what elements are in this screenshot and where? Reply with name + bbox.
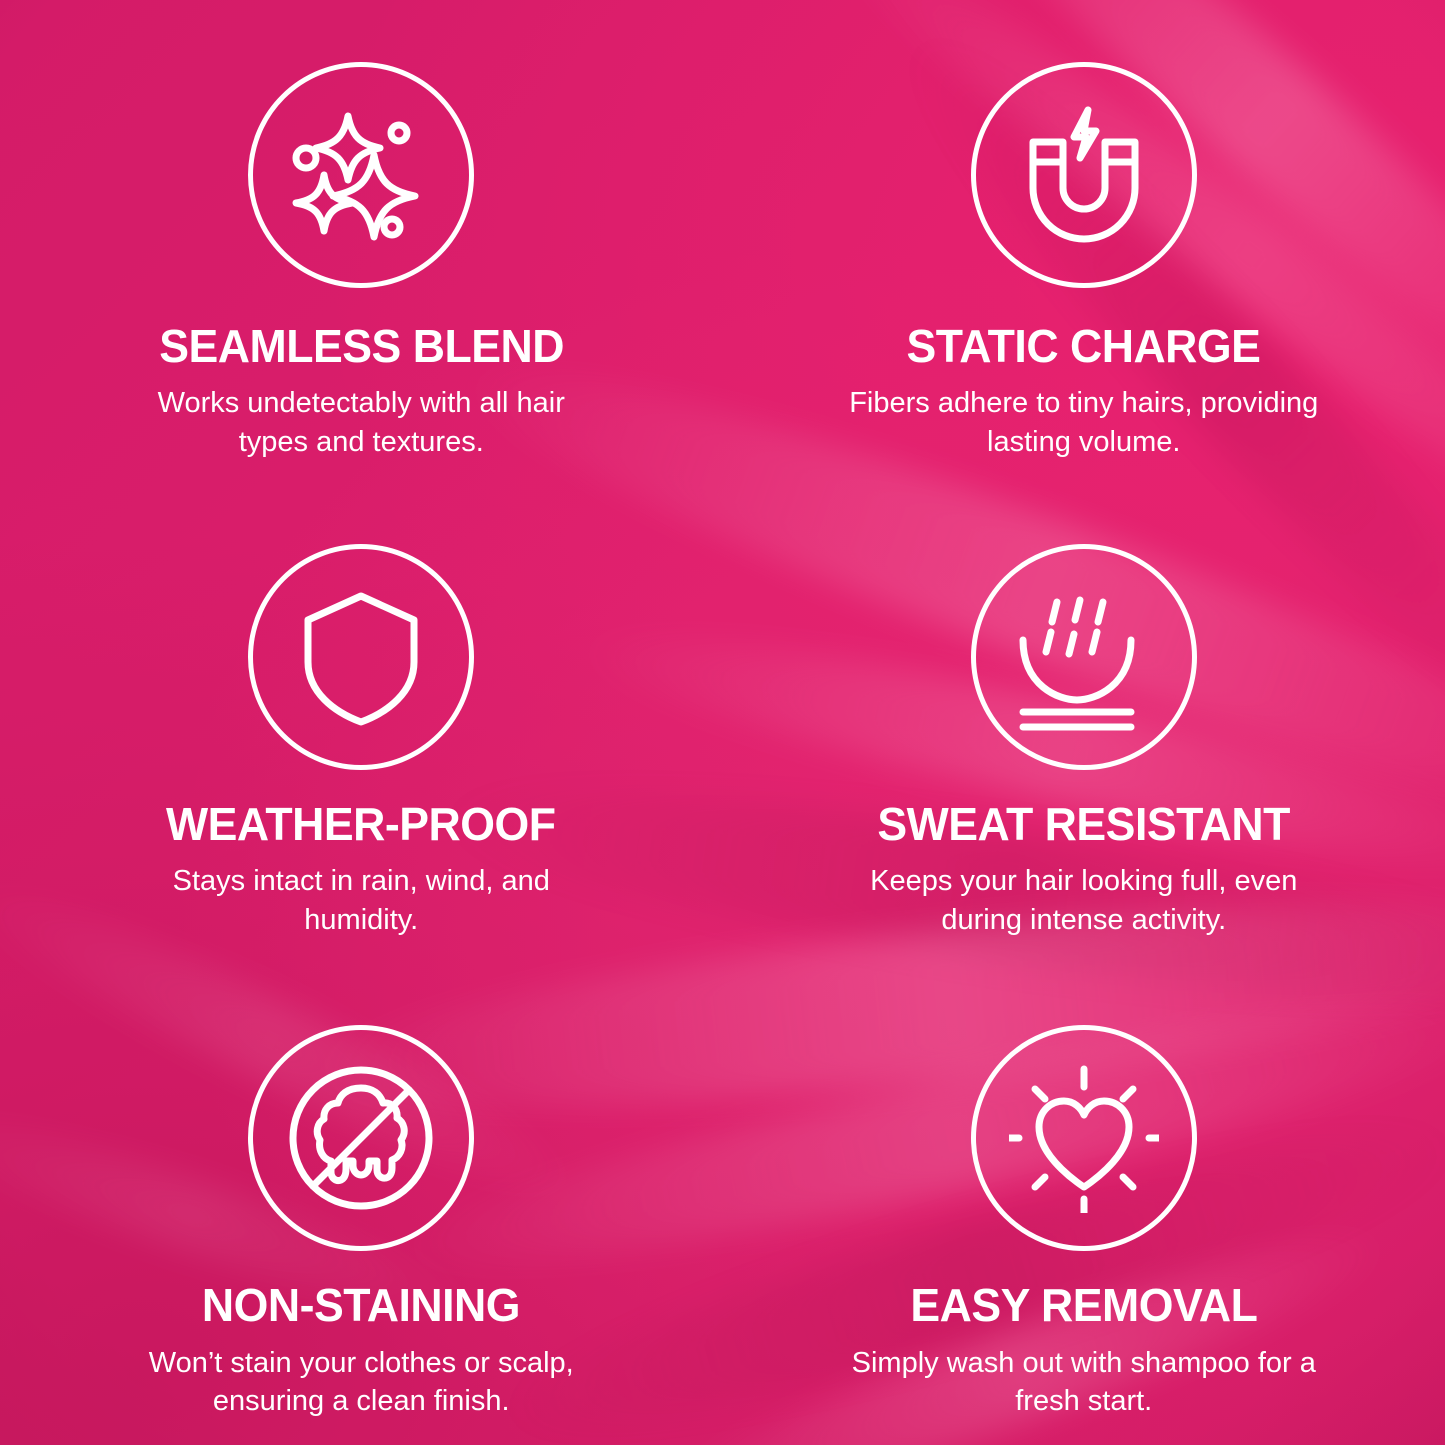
feature-description: Works undetectably with all hair types a…	[126, 384, 596, 461]
magnet-static-icon	[971, 62, 1197, 288]
feature-description: Fibers adhere to tiny hairs, providing l…	[849, 384, 1319, 461]
feature-title: SEAMLESS BLEND	[159, 322, 564, 370]
feature-cell-easy-removal: EASY REMOVAL Simply wash out with shampo…	[723, 963, 1445, 1445]
feature-cell-static-charge: STATIC CHARGE Fibers adhere to tiny hair…	[723, 0, 1445, 482]
feature-grid: SEAMLESS BLEND Works undetectably with a…	[0, 0, 1445, 1445]
feature-cell-weather-proof: WEATHER-PROOF Stays intact in rain, wind…	[0, 482, 723, 964]
feature-cell-sweat-resistant: SWEAT RESISTANT Keeps your hair looking …	[723, 482, 1445, 964]
feature-title: NON-STAINING	[202, 1281, 520, 1329]
feature-description: Stays intact in rain, wind, and humidity…	[126, 862, 596, 939]
feature-description: Won’t stain your clothes or scalp, ensur…	[126, 1344, 596, 1421]
feature-description: Simply wash out with shampoo for a fresh…	[849, 1344, 1319, 1421]
shield-icon	[248, 544, 474, 770]
no-stain-icon	[248, 1025, 474, 1251]
feature-title: STATIC CHARGE	[907, 322, 1261, 370]
feature-cell-non-staining: NON-STAINING Won’t stain your clothes or…	[0, 963, 723, 1445]
sparkle-icon	[248, 62, 474, 288]
shining-heart-icon	[971, 1025, 1197, 1251]
water-repellent-icon	[971, 544, 1197, 770]
feature-description: Keeps your hair looking full, even durin…	[849, 862, 1319, 939]
feature-cell-seamless-blend: SEAMLESS BLEND Works undetectably with a…	[0, 0, 723, 482]
feature-title: WEATHER-PROOF	[167, 800, 556, 848]
feature-title: EASY REMOVAL	[910, 1281, 1257, 1329]
feature-title: SWEAT RESISTANT	[878, 800, 1290, 848]
